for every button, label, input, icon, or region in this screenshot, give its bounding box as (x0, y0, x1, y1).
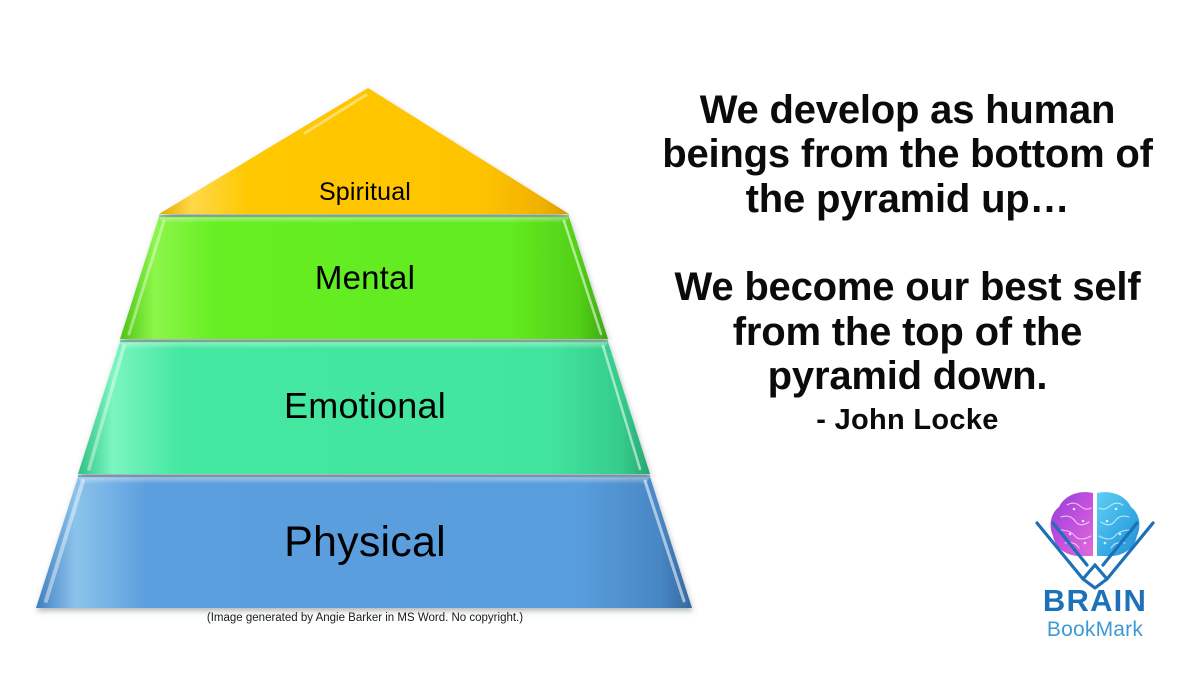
logo-subtitle: BookMark (1015, 618, 1175, 642)
logo-title: BRAIN (1015, 585, 1175, 616)
pyramid-label-mental: Mental (0, 259, 730, 297)
pyramid-source-caption: (Image generated by Angie Barker in MS W… (0, 612, 730, 624)
brain-bookmark-logo: BRAIN BookMark (1015, 485, 1175, 650)
slide-canvas: Spiritual Mental Emotional Physical (Ima… (0, 0, 1200, 675)
pyramid-graphic (0, 0, 730, 675)
brain-hemispheres (1051, 492, 1140, 556)
pyramid-label-physical: Physical (0, 518, 730, 567)
quote-line-1: We develop as human beings from the bott… (655, 88, 1160, 221)
logo-text: BRAIN BookMark (1015, 585, 1175, 642)
quote-line-2: We become our best self from the top of … (655, 265, 1160, 398)
pyramid-diagram: Spiritual Mental Emotional Physical (Ima… (0, 0, 730, 675)
brain-icon (1015, 485, 1175, 590)
pyramid-label-emotional: Emotional (0, 385, 730, 427)
quote-block: We develop as human beings from the bott… (655, 88, 1160, 437)
quote-attribution: - John Locke (655, 404, 1160, 436)
pyramid-label-spiritual: Spiritual (0, 178, 730, 207)
